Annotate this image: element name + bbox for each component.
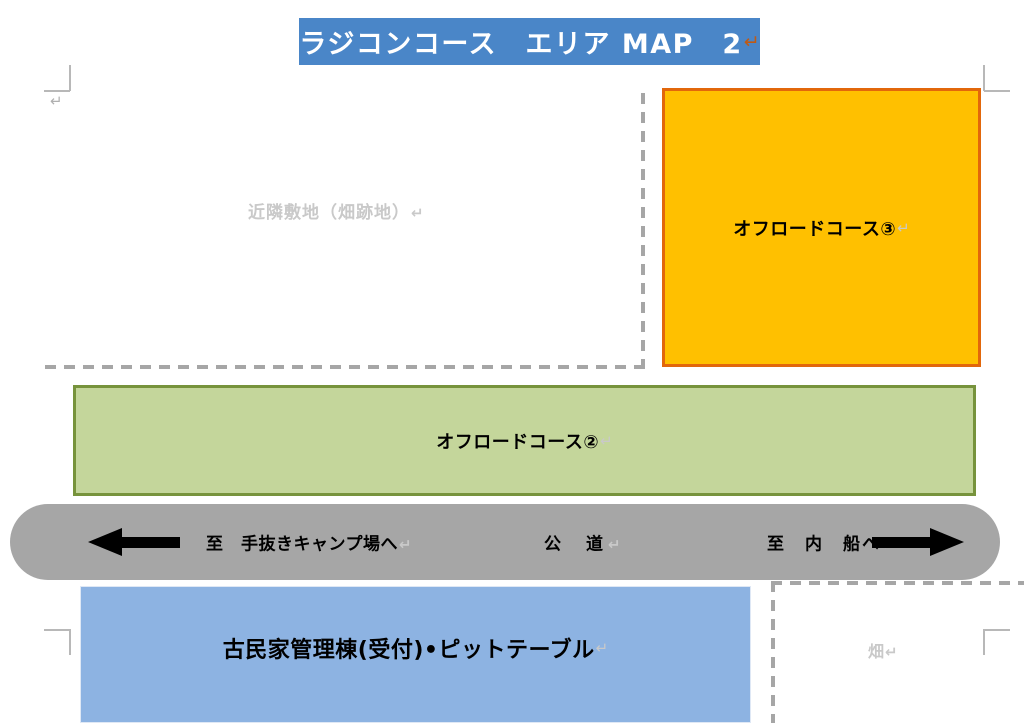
- road-destination-right-text: 至 内 船へ: [767, 535, 881, 555]
- paragraph-mark-road-center: ↵: [608, 536, 625, 554]
- page-corner-mark-bottom-left: [44, 629, 70, 655]
- neighbor-lot-label: 近隣敷地（畑跡地）↵: [248, 198, 425, 223]
- field-area-label: 畑↵: [868, 638, 898, 662]
- neighbor-lot-dashed-border-right: [641, 93, 645, 369]
- offroad-course-3-label: オフロードコース③: [733, 215, 896, 241]
- public-road-label: 公 道↵: [544, 530, 625, 555]
- paragraph-mark-field: ↵: [885, 643, 898, 661]
- page-corner-mark-top-left: [44, 65, 70, 91]
- map-title-banner: ラジコンコース エリア MAP 2 ↵: [299, 18, 760, 65]
- paragraph-mark-title: ↵: [744, 31, 760, 53]
- public-road-bar[interactable]: 至 手抜きキャンプ場へ↵ 公 道↵ 至 内 船へ↵: [10, 504, 1000, 580]
- pit-building-label: 古民家管理棟(受付)•ピットテーブル: [223, 632, 595, 664]
- neighbor-lot-label-text: 近隣敷地（畑跡地）: [248, 203, 410, 223]
- paragraph-mark-neighbor-lot: ↵: [411, 204, 425, 222]
- offroad-course-2-label: オフロードコース②: [436, 428, 599, 454]
- field-dashed-border-left: [771, 581, 775, 723]
- road-destination-left: 至 手抜きキャンプ場へ↵: [206, 530, 412, 555]
- right-arrow-icon: [872, 533, 964, 551]
- paragraph-mark-pit-building: ↵: [596, 639, 609, 657]
- page-corner-mark-top-right: [984, 65, 1010, 91]
- paragraph-mark-offroad-3: ↵: [897, 219, 910, 237]
- field-dashed-border-top: [771, 581, 1024, 585]
- paragraph-mark-offroad-2: ↵: [600, 432, 613, 450]
- road-destination-left-text: 至 手抜きキャンプ場へ: [206, 535, 398, 555]
- page-corner-mark-bottom-right: [984, 629, 1010, 655]
- offroad-course-2-area[interactable]: オフロードコース②↵: [73, 385, 976, 496]
- neighbor-lot-dashed-border-bottom: [45, 365, 645, 369]
- public-road-label-text: 公 道: [544, 535, 607, 555]
- offroad-course-3-area[interactable]: オフロードコース③↵: [662, 88, 981, 367]
- pit-building-area[interactable]: 古民家管理棟(受付)•ピットテーブル↵: [80, 586, 751, 723]
- paragraph-mark-top-left: ↵: [50, 92, 63, 110]
- field-area-label-text: 畑: [868, 642, 884, 661]
- page-title: ラジコンコース エリア MAP 2: [299, 22, 742, 61]
- left-arrow-icon: [88, 533, 180, 551]
- paragraph-mark-road-left: ↵: [399, 536, 412, 554]
